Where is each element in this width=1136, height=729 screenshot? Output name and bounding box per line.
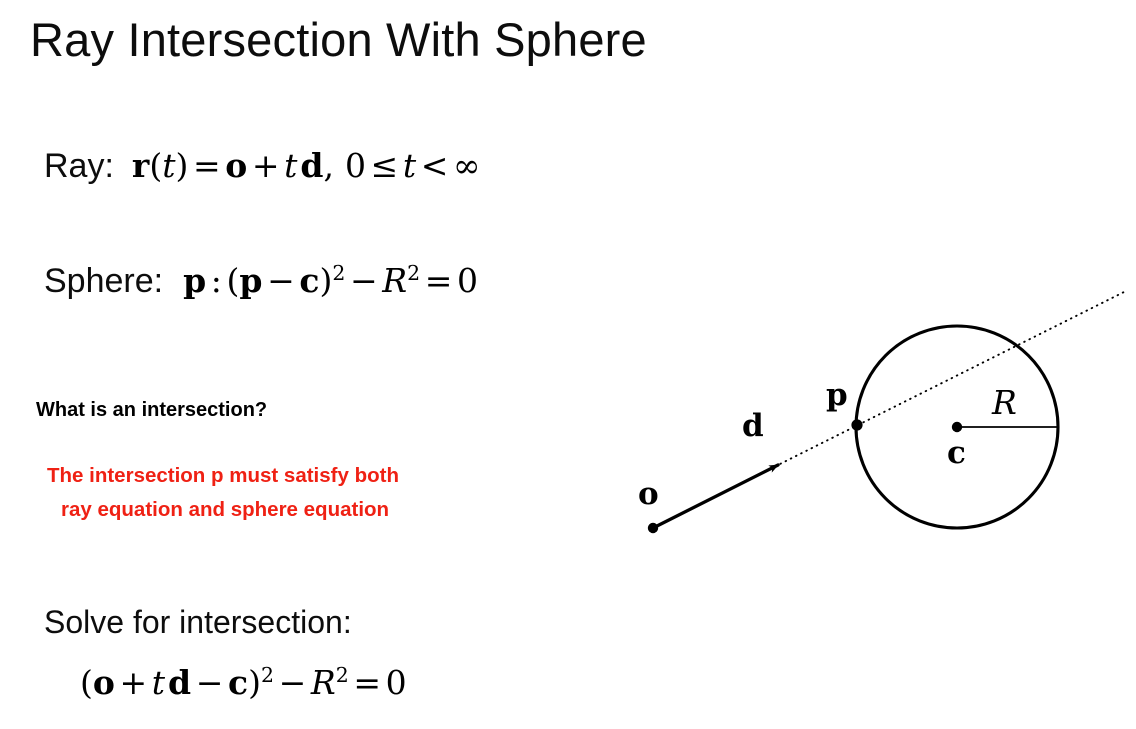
sphere-lparen: ( [227, 261, 240, 300]
ray-symbol-o: o [225, 146, 247, 185]
diagram-svg [600, 255, 1136, 555]
ray-label: Ray: [44, 147, 114, 185]
label-center-c: c [947, 435, 966, 471]
ray-lparen: ( [149, 146, 162, 185]
ray-var-t3: t [403, 146, 416, 185]
ray-equation: r(t)=o+td,0≤t<∞ [132, 146, 481, 185]
sphere-equals: = [420, 261, 457, 300]
direction-arrow [653, 465, 778, 528]
red-note-line-2: ray equation and sphere equation [47, 493, 547, 527]
ray-rparen: ) [175, 146, 188, 185]
sphere-symbol-p2: p [239, 261, 262, 300]
solve-exponent-1: 2 [261, 663, 274, 687]
solve-symbol-R: R [311, 663, 336, 702]
solve-plus: + [115, 663, 152, 702]
solve-symbol-c: c [228, 663, 248, 702]
sphere-equation-row: Sphere:p:(p−c)2−R2=0 [44, 261, 478, 301]
label-origin-o: o [638, 476, 659, 512]
solve-label: Solve for intersection: [44, 604, 352, 641]
red-note: The intersection p must satisfy both ray… [47, 459, 547, 527]
sphere-minus-1: − [262, 261, 299, 300]
ray-var-t2: t [284, 146, 297, 185]
intersection-point-dot [851, 419, 862, 430]
center-point-dot [952, 422, 962, 432]
sphere-equation: p:(p−c)2−R2=0 [183, 261, 478, 300]
sphere-label: Sphere: [44, 262, 163, 300]
slide-canvas: Ray Intersection With Sphere Ray:r(t)=o+… [0, 0, 1136, 729]
ray-symbol-d: d [300, 146, 323, 185]
solve-zero: 0 [386, 663, 407, 702]
solve-equation: (o+td−c)2−R2=0 [80, 663, 407, 702]
solve-symbol-o: o [93, 663, 115, 702]
sphere-zero: 0 [457, 261, 478, 300]
solve-minus-2: − [274, 663, 311, 702]
solve-lparen: ( [80, 663, 93, 702]
solve-var-t: t [152, 663, 165, 702]
solve-rparen: ) [248, 663, 261, 702]
ray-zero: 0 [345, 146, 366, 185]
page-title: Ray Intersection With Sphere [30, 12, 647, 67]
label-radius-R: R [992, 383, 1017, 422]
solve-equals: = [349, 663, 386, 702]
sphere-symbol-p1: p [183, 261, 206, 300]
sphere-symbol-c: c [299, 261, 319, 300]
sphere-symbol-R: R [382, 261, 407, 300]
sphere-rparen: ) [319, 261, 332, 300]
sphere-exponent-1: 2 [332, 261, 345, 285]
sphere-minus-2: − [345, 261, 382, 300]
sphere-colon: : [206, 261, 226, 300]
red-note-line-1: The intersection p must satisfy both [47, 464, 399, 487]
ray-plus: + [247, 146, 284, 185]
ray-equation-row: Ray:r(t)=o+td,0≤t<∞ [44, 146, 480, 186]
label-intersection-p: p [826, 377, 848, 413]
solve-symbol-d: d [168, 663, 191, 702]
label-direction-d: d [742, 408, 764, 444]
sphere-exponent-2: 2 [407, 261, 420, 285]
solve-minus-1: − [191, 663, 228, 702]
ray-var-t1: t [162, 146, 175, 185]
ray-leq: ≤ [366, 146, 403, 185]
ray-sphere-diagram: o d p c R [600, 255, 1136, 555]
origin-point-dot [648, 523, 658, 533]
question-heading: What is an intersection? [36, 399, 267, 422]
solve-exponent-2: 2 [336, 663, 349, 687]
ray-comma: , [323, 146, 334, 185]
ray-infinity: ∞ [453, 146, 481, 185]
ray-equals: = [188, 146, 225, 185]
ray-symbol-r: r [132, 146, 149, 185]
ray-lt: < [416, 146, 453, 185]
